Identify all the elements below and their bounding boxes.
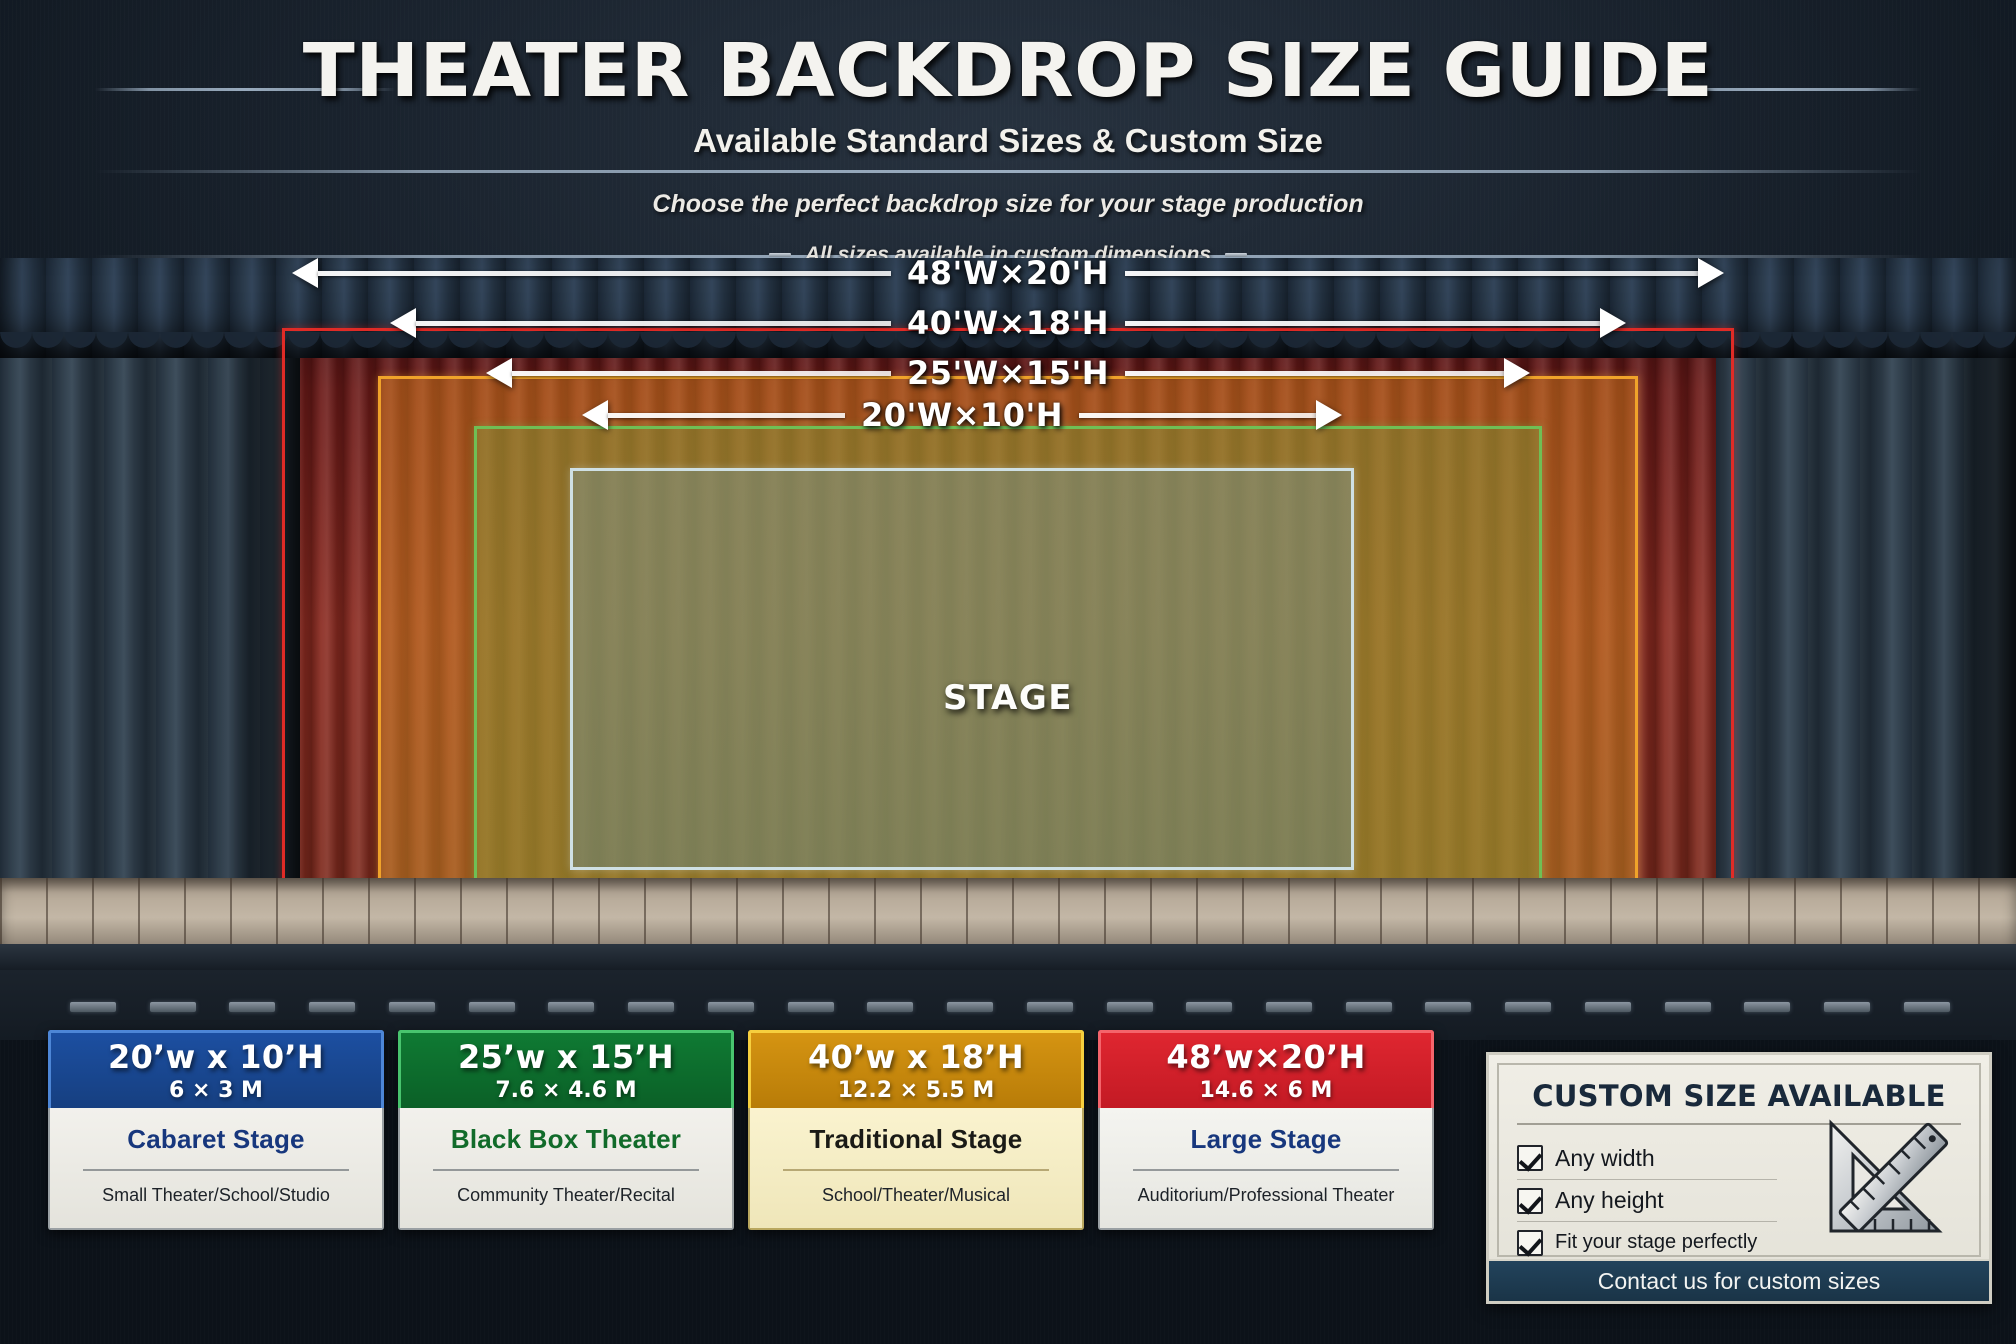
checkbox-checked-icon: [1517, 1188, 1543, 1214]
size-card-metric: 12.2 × 5.5 M: [838, 1078, 995, 1103]
arrow-line-right: [1125, 371, 1504, 376]
footlight-icon: [548, 1002, 594, 1012]
size-card-metric: 14.6 × 6 M: [1200, 1078, 1333, 1103]
page-subtitle: Available Standard Sizes & Custom Size: [0, 122, 2016, 160]
footlight-icon: [1824, 1002, 1870, 1012]
ruler-triangle-icon: [1817, 1109, 1967, 1249]
size-card-header: 48’w×20’H 14.6 × 6 M: [1098, 1030, 1434, 1108]
stage-floor: [0, 878, 2016, 950]
arrow-right-icon: [1600, 308, 1626, 338]
dash-right-icon: [1225, 253, 1247, 257]
footlight-icon: [1744, 1002, 1790, 1012]
footlight-icon: [1665, 1002, 1711, 1012]
dimension-row-40x18: 40'W×18'H: [390, 300, 1626, 346]
custom-feature-label: Any height: [1555, 1187, 1664, 1214]
size-card-large-stage[interactable]: 48’w×20’H 14.6 × 6 M Large Stage Auditor…: [1098, 1030, 1434, 1230]
size-card-metric: 6 × 3 M: [169, 1078, 263, 1103]
footlight-icon: [469, 1002, 515, 1012]
dash-left-icon: [769, 253, 791, 257]
size-card-usage: Auditorium/Professional Theater: [1132, 1185, 1401, 1206]
arrow-line-right: [1125, 271, 1698, 276]
custom-feature-any-width: Any width: [1517, 1137, 1777, 1179]
arrow-line-left: [318, 271, 891, 276]
size-card-metric: 7.6 × 4.6 M: [495, 1078, 636, 1103]
footlight-icon: [70, 1002, 116, 1012]
wing-curtain-right: [1716, 258, 2016, 970]
arrow-line-right: [1079, 413, 1316, 418]
stage-diagram: STAGE 48'W×20'H 40'W×18'H 25'W×15'H 20'W…: [0, 258, 2016, 970]
dimension-label-20x10: 20'W×10'H: [845, 396, 1079, 434]
arrow-line-right: [1125, 321, 1600, 326]
dimension-label-40x18: 40'W×18'H: [891, 304, 1125, 342]
size-card-usage: Small Theater/School/Studio: [96, 1185, 336, 1206]
size-card-dimensions: 48’w×20’H: [1166, 1038, 1365, 1076]
size-card-black-box-theater[interactable]: 25’w x 15’H 7.6 × 4.6 M Black Box Theate…: [398, 1030, 734, 1230]
checkbox-checked-icon: [1517, 1230, 1543, 1256]
custom-feature-any-height: Any height: [1517, 1179, 1777, 1221]
footlight-icon: [229, 1002, 275, 1012]
footlight-icon: [1585, 1002, 1631, 1012]
checkbox-checked-icon: [1517, 1145, 1543, 1171]
size-card-cabaret-stage[interactable]: 20’w x 10’H 6 × 3 M Cabaret Stage Small …: [48, 1030, 384, 1230]
size-card-body: Black Box Theater Community Theater/Reci…: [398, 1108, 734, 1230]
size-card-usage: Community Theater/Recital: [451, 1185, 681, 1206]
page-tagline: Choose the perfect backdrop size for you…: [0, 190, 2016, 219]
arrow-left-icon: [292, 258, 318, 288]
size-rect-20x10[interactable]: [570, 468, 1354, 870]
footlight-icon: [1027, 1002, 1073, 1012]
stage-apron: [0, 944, 2016, 970]
footlight-icon: [708, 1002, 754, 1012]
custom-feature-fit-stage: Fit your stage perfectly: [1517, 1221, 1777, 1263]
arrow-line-left: [416, 321, 891, 326]
dimension-row-20x10: 20'W×10'H: [582, 392, 1342, 438]
footlight-icon: [309, 1002, 355, 1012]
wing-curtain-left: [0, 258, 300, 970]
footlight-icon: [1107, 1002, 1153, 1012]
dimension-label-48x20: 48'W×20'H: [891, 258, 1125, 292]
size-card-name: Cabaret Stage: [127, 1124, 304, 1155]
size-card-dimensions: 20’w x 10’H: [108, 1038, 324, 1076]
arrow-left-icon: [486, 358, 512, 388]
footlight-icon: [1266, 1002, 1312, 1012]
custom-size-title: CUSTOM SIZE AVAILABLE: [1517, 1079, 1961, 1113]
custom-size-panel[interactable]: CUSTOM SIZE AVAILABLE Any width Any heig…: [1486, 1052, 1992, 1304]
custom-size-inner: CUSTOM SIZE AVAILABLE Any width Any heig…: [1497, 1063, 1981, 1257]
footlight-icon: [788, 1002, 834, 1012]
size-card-dimensions: 25’w x 15’H: [458, 1038, 674, 1076]
footlight-icon: [1186, 1002, 1232, 1012]
header: THEATER BACKDROP SIZE GUIDE Available St…: [0, 0, 2016, 300]
size-card-body: Large Stage Auditorium/Professional Thea…: [1098, 1108, 1434, 1230]
arrow-left-icon: [582, 400, 608, 430]
footlight-icon: [1425, 1002, 1471, 1012]
size-card-header: 25’w x 15’H 7.6 × 4.6 M: [398, 1030, 734, 1108]
custom-feature-list: Any width Any height Fit your stage perf…: [1517, 1137, 1777, 1263]
footlight-icon: [1904, 1002, 1950, 1012]
size-card-body: Traditional Stage School/Theater/Musical: [748, 1108, 1084, 1230]
header-rule-upper: [95, 170, 1921, 173]
dimension-label-25x15: 25'W×15'H: [891, 354, 1125, 392]
footlight-icon: [1505, 1002, 1551, 1012]
footlight-icon: [867, 1002, 913, 1012]
size-card-header: 40’w x 18’H 12.2 × 5.5 M: [748, 1030, 1084, 1108]
footlight-icon: [628, 1002, 674, 1012]
page-title: THEATER BACKDROP SIZE GUIDE: [0, 28, 2016, 114]
arrow-right-icon: [1698, 258, 1724, 288]
footlight-strip: [70, 1002, 1950, 1014]
size-card-name: Large Stage: [1190, 1124, 1341, 1155]
size-rect-20x10-fill: [573, 471, 1351, 867]
size-card-name: Traditional Stage: [810, 1124, 1023, 1155]
custom-size-cta[interactable]: Contact us for custom sizes: [1489, 1259, 1989, 1301]
size-card-divider: [433, 1169, 699, 1171]
stage-label: STAGE: [0, 678, 2016, 718]
size-card-divider: [1133, 1169, 1399, 1171]
size-card-header: 20’w x 10’H 6 × 3 M: [48, 1030, 384, 1108]
size-card-dimensions: 40’w x 18’H: [808, 1038, 1024, 1076]
size-card-traditional-stage[interactable]: 40’w x 18’H 12.2 × 5.5 M Traditional Sta…: [748, 1030, 1084, 1230]
footlight-icon: [389, 1002, 435, 1012]
custom-feature-label: Any width: [1555, 1145, 1655, 1172]
footlight-icon: [1346, 1002, 1392, 1012]
size-card-body: Cabaret Stage Small Theater/School/Studi…: [48, 1108, 384, 1230]
size-card-divider: [783, 1169, 1049, 1171]
arrow-line-left: [512, 371, 891, 376]
size-card-divider: [83, 1169, 349, 1171]
arrow-left-icon: [390, 308, 416, 338]
arrow-line-left: [608, 413, 845, 418]
footlight-icon: [947, 1002, 993, 1012]
size-card-usage: School/Theater/Musical: [816, 1185, 1016, 1206]
custom-feature-label: Fit your stage perfectly: [1555, 1231, 1757, 1254]
dimension-row-48x20: 48'W×20'H: [292, 258, 1724, 296]
footlight-icon: [150, 1002, 196, 1012]
size-card-name: Black Box Theater: [451, 1124, 681, 1155]
arrow-right-icon: [1316, 400, 1342, 430]
arrow-right-icon: [1504, 358, 1530, 388]
dimension-row-25x15: 25'W×15'H: [486, 350, 1530, 396]
stage-floor-planks: [0, 878, 2016, 950]
